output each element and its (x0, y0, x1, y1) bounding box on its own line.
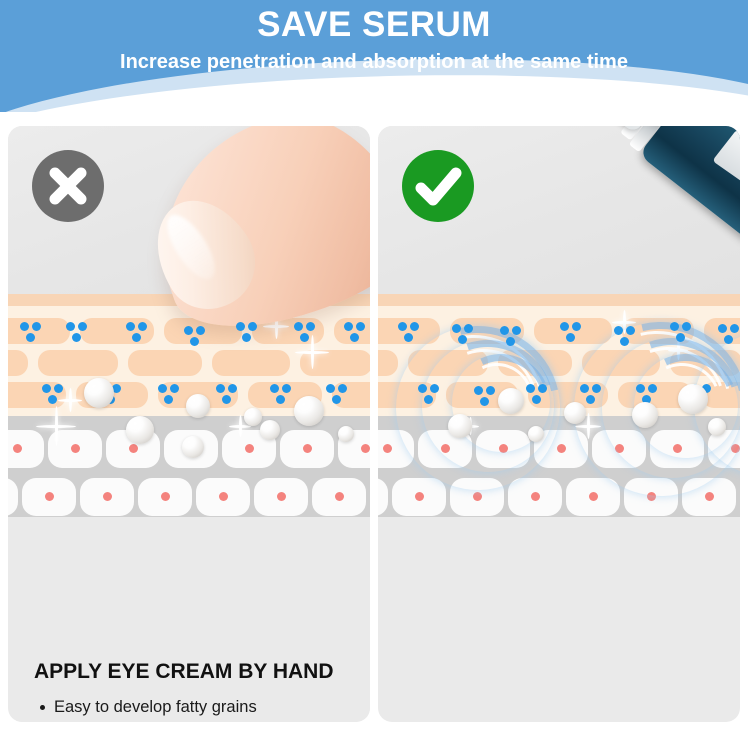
cell-nucleus (13, 444, 22, 453)
cell-nucleus (361, 444, 370, 453)
benefit-list-left: Easy to develop fatty grains Essence is … (34, 697, 360, 722)
serum-molecule (184, 326, 208, 350)
cross-x-icon (32, 150, 104, 222)
skin-cell (378, 350, 398, 376)
serum-droplet (294, 396, 324, 426)
serum-droplet (708, 418, 726, 436)
panel-title-left: APPLY EYE CREAM BY HAND (34, 659, 360, 685)
illustration-hand-application (8, 126, 370, 517)
skin-layer-gap (378, 306, 740, 314)
serum-droplet (498, 388, 524, 414)
skin-cell (212, 350, 290, 376)
page-subtitle: Increase penetration and absorption at t… (0, 50, 748, 74)
cell-nucleus (383, 444, 392, 453)
infographic-page: SAVE SERUM Increase penetration and abso… (0, 0, 748, 735)
serum-molecule (126, 322, 150, 346)
serum-molecule (66, 322, 90, 346)
serum-droplet (632, 402, 658, 428)
sparkle-icon (295, 351, 329, 354)
illustration-roller-application: DOU (378, 126, 740, 517)
cell-nucleus (303, 444, 312, 453)
serum-molecule (580, 384, 604, 408)
skin-layer-deep (8, 416, 370, 517)
sparkle-icon (263, 325, 289, 328)
serum-molecule (270, 384, 294, 408)
cell-nucleus (473, 492, 482, 501)
skin-cell (38, 350, 118, 376)
sparkle-icon (36, 425, 76, 428)
serum-droplet (564, 402, 586, 424)
cell-nucleus (219, 492, 228, 501)
skin-cell (128, 350, 202, 376)
serum-molecule (718, 324, 740, 348)
serum-droplet (260, 420, 280, 440)
cell-nucleus (705, 492, 714, 501)
cell-nucleus (45, 492, 54, 501)
cell-nucleus (335, 492, 344, 501)
cell-nucleus (589, 492, 598, 501)
serum-molecule (500, 326, 524, 350)
serum-molecule (158, 384, 182, 408)
serum-molecule (474, 386, 498, 410)
cell-nucleus (531, 492, 540, 501)
serum-droplet (678, 384, 708, 414)
deep-skin-cell (8, 478, 18, 516)
panel-apply-by-hand: APPLY EYE CREAM BY HAND Easy to develop … (8, 126, 370, 722)
page-title: SAVE SERUM (0, 6, 748, 44)
serum-molecule (326, 384, 350, 408)
serum-molecule (20, 322, 44, 346)
cell-nucleus (129, 444, 138, 453)
skin-layer-epidermis (378, 294, 740, 306)
sparkle-icon (229, 425, 251, 428)
serum-molecule (42, 384, 66, 408)
text-box-left: APPLY EYE CREAM BY HAND Easy to develop … (16, 643, 370, 722)
deep-skin-cell (378, 478, 388, 516)
sparkle-icon (612, 321, 636, 324)
serum-molecule (452, 324, 476, 348)
cell-nucleus (103, 492, 112, 501)
cell-nucleus (161, 492, 170, 501)
serum-molecule (344, 322, 368, 346)
cell-nucleus (245, 444, 254, 453)
serum-droplet (448, 414, 472, 438)
cell-nucleus (277, 492, 286, 501)
serum-molecule (418, 384, 442, 408)
list-item: Easy to develop fatty grains (34, 697, 360, 718)
serum-droplet (338, 426, 354, 442)
serum-droplet (186, 394, 210, 418)
serum-droplet (126, 416, 154, 444)
serum-molecule (670, 322, 694, 346)
cell-nucleus (71, 444, 80, 453)
cell-nucleus (415, 492, 424, 501)
serum-molecule (216, 384, 240, 408)
serum-droplet (528, 426, 544, 442)
panel-roller-ball: DOU 360° ROLLER BALL MASSAGER Absorption… (378, 126, 740, 722)
serum-molecule (560, 322, 584, 346)
serum-molecule (294, 322, 318, 346)
cell-nucleus (557, 444, 566, 453)
skin-cell (8, 350, 28, 376)
header-banner: SAVE SERUM Increase penetration and abso… (0, 0, 748, 112)
serum-droplet (84, 378, 114, 408)
serum-molecule (614, 326, 638, 350)
serum-molecule (526, 384, 550, 408)
serum-molecule (398, 322, 422, 346)
serum-molecule (236, 322, 260, 346)
serum-droplet (182, 436, 204, 458)
check-mark-icon (402, 150, 474, 222)
serum-droplet (244, 408, 262, 426)
